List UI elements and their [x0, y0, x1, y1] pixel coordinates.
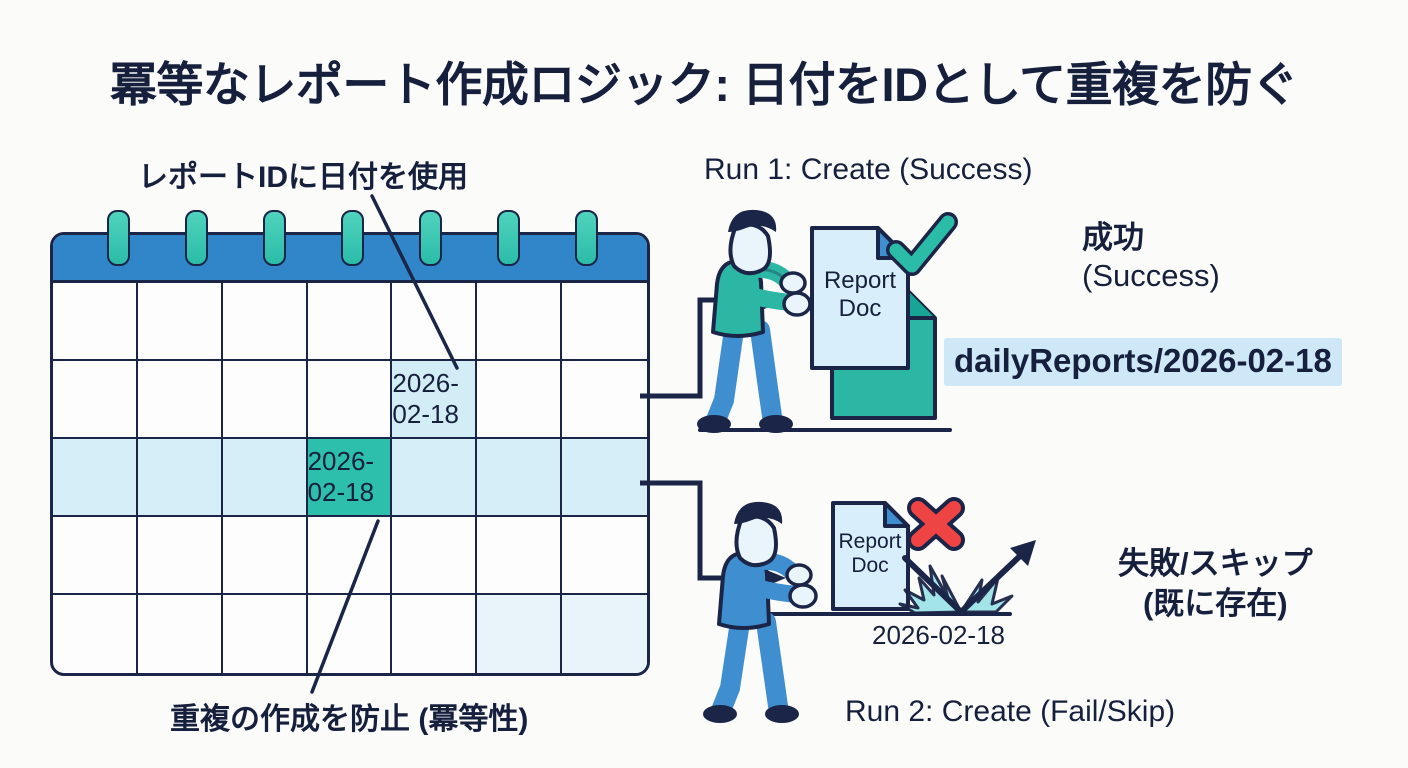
calendar-cell[interactable] — [53, 517, 138, 595]
run1-report-doc-fold — [878, 228, 908, 258]
calendar-cell[interactable] — [562, 595, 647, 673]
collision-burst-icon — [900, 566, 961, 613]
calendar-cell[interactable] — [138, 361, 223, 439]
check-icon — [896, 222, 948, 266]
calendar-ring-icon — [575, 210, 598, 266]
calendar-cell[interactable] — [53, 439, 138, 517]
collision-incoming-arrow — [905, 558, 961, 612]
run1-person-head — [730, 224, 770, 273]
run1-stored-doc-fold — [900, 283, 935, 318]
run2-report-doc-fold — [885, 503, 908, 526]
run1-report-doc-icon — [812, 228, 908, 368]
calendar-cell[interactable] — [53, 361, 138, 439]
calendar-cell[interactable] — [562, 439, 647, 517]
run1-stored-doc-icon — [832, 283, 935, 418]
run1-person-arm-lower — [736, 292, 786, 302]
run2-person-head — [736, 516, 776, 565]
run1-person-arm-upper — [742, 269, 786, 280]
run2-person-hand-lower — [790, 585, 816, 607]
run2-result-title: 失敗/スキップ — [1118, 544, 1313, 584]
run1-person-leg-back — [716, 330, 734, 420]
calendar-bottom-annotation: 重複の作成を防止 (冪等性) — [170, 694, 528, 738]
calendar-cell[interactable] — [562, 361, 647, 439]
connector-run1 — [640, 300, 755, 396]
calendar-cell[interactable] — [308, 283, 393, 361]
calendar-widget: 2026-02-18 2026-02-18 — [50, 232, 650, 676]
calendar-cell[interactable] — [477, 439, 562, 517]
cross-icon — [918, 508, 954, 540]
calendar-cell[interactable] — [223, 361, 308, 439]
run2-person-hand-upper — [787, 565, 811, 585]
run1-person-leg-front — [760, 330, 772, 416]
calendar-cell[interactable] — [392, 439, 477, 517]
run1-caption: Run 1: Create (Success) — [704, 153, 1032, 187]
calendar-grid: 2026-02-18 2026-02-18 — [53, 283, 647, 673]
run2-person-arm-lower — [742, 584, 792, 594]
check-icon-fill — [896, 222, 948, 266]
calendar-ring-icon — [341, 210, 364, 266]
calendar-cell[interactable] — [308, 517, 393, 595]
collision-date-label: 2026-02-18 — [872, 620, 1005, 651]
calendar-cell[interactable] — [477, 517, 562, 595]
run2-person-shoe-back — [703, 705, 737, 723]
calendar-cell[interactable] — [562, 283, 647, 361]
calendar-cell[interactable] — [392, 517, 477, 595]
run1-person-hand-lower — [784, 293, 810, 315]
calendar-ring-icon — [107, 210, 130, 266]
calendar-cell[interactable] — [477, 283, 562, 361]
run1-illustration: Report Doc — [697, 210, 950, 433]
collision-bounce-arrow — [961, 556, 1020, 612]
run2-report-doc-icon — [833, 503, 908, 609]
collision-burst-icon-right — [961, 578, 1012, 612]
calendar-cell[interactable] — [138, 439, 223, 517]
calendar-cell[interactable] — [562, 517, 647, 595]
firestore-path-chip: dailyReports/2026-02-18 — [944, 338, 1342, 386]
run2-result: 失敗/スキップ (既に存在) — [1118, 544, 1313, 624]
calendar-cell[interactable] — [223, 283, 308, 361]
calendar-ring-icon — [185, 210, 208, 266]
connector-run2-arrowhead — [752, 564, 786, 592]
run2-person-leg-front — [766, 622, 778, 706]
calendar-cell[interactable] — [53, 283, 138, 361]
run1-person-arm-upper-outline — [742, 269, 786, 280]
page-title: 冪等なレポート作成ロジック: 日付をIDとして重複を防ぐ — [0, 46, 1408, 115]
run1-doc-label-line2: Doc — [839, 295, 882, 322]
calendar-cell[interactable] — [308, 361, 393, 439]
run1-person-shoe-front — [759, 415, 793, 433]
calendar-ring-icon — [497, 210, 520, 266]
run2-doc-label-line2: Doc — [851, 554, 888, 577]
run2-person-arm-upper — [748, 561, 792, 572]
run2-result-subtitle: (既に存在) — [1118, 584, 1313, 624]
calendar-cell[interactable] — [223, 595, 308, 673]
run1-result-subtitle: (Success) — [1082, 257, 1220, 295]
run2-person-leg-back — [722, 622, 740, 708]
run2-doc-label-line1: Report — [838, 530, 901, 553]
calendar-ring-icon — [419, 210, 442, 266]
calendar-cell[interactable] — [138, 595, 223, 673]
calendar-top-annotation: レポートIDに日付を使用 — [138, 152, 468, 196]
calendar-body: 2026-02-18 2026-02-18 — [50, 232, 650, 676]
run2-person-shoe-front — [765, 705, 799, 723]
calendar-cell[interactable] — [53, 595, 138, 673]
calendar-cell[interactable] — [477, 595, 562, 673]
calendar-ring-icon — [263, 210, 286, 266]
run1-person-hair-icon — [728, 210, 776, 232]
calendar-cell[interactable] — [392, 595, 477, 673]
run1-person-torso — [713, 262, 763, 336]
run2-person-torso — [719, 554, 769, 628]
collision-bounce-arrowhead — [1010, 540, 1036, 566]
calendar-cell[interactable] — [392, 283, 477, 361]
run2-caption: Run 2: Create (Fail/Skip) — [845, 695, 1175, 729]
run2-person-hair-icon — [734, 502, 782, 524]
run2-illustration: Report Doc — [703, 502, 1036, 723]
run1-result-title: 成功 — [1082, 219, 1220, 257]
run1-result: 成功 (Success) — [1082, 219, 1220, 295]
calendar-cell[interactable] — [138, 517, 223, 595]
calendar-cell[interactable] — [477, 361, 562, 439]
diagram-canvas: 冪等なレポート作成ロジック: 日付をIDとして重複を防ぐ レポートIDに日付を使… — [0, 0, 1408, 768]
connector-run2 — [640, 483, 755, 578]
run1-doc-label-line1: Report — [824, 267, 896, 294]
connector-run1-arrowhead — [752, 286, 786, 314]
calendar-cell[interactable] — [308, 595, 393, 673]
calendar-cell[interactable] — [138, 283, 223, 361]
calendar-cell-highlighted-strong[interactable]: 2026-02-18 — [308, 439, 393, 517]
calendar-cell-highlighted-soft[interactable]: 2026-02-18 — [392, 361, 477, 439]
calendar-cell[interactable] — [223, 439, 308, 517]
calendar-cell[interactable] — [223, 517, 308, 595]
run1-person-hand-upper — [781, 273, 805, 293]
run1-person-shoe-back — [697, 415, 731, 433]
